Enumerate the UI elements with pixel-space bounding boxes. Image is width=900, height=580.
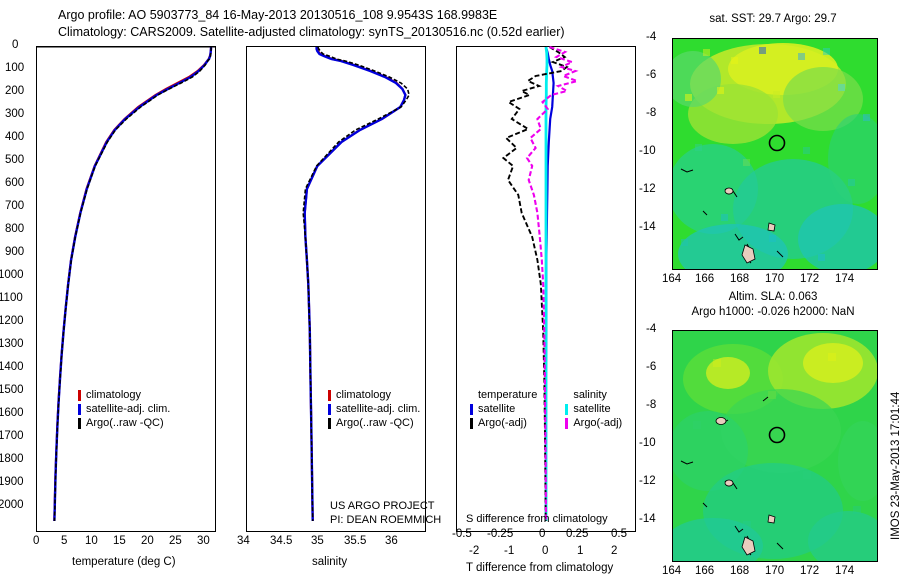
- salinity-legend: climatology satellite-adj. clim. Argo(..…: [328, 389, 420, 429]
- difference-legend: temperature satellite Argo(-adj) salinit…: [470, 389, 622, 429]
- legend-swatch-diff-sal-argo: [565, 418, 568, 429]
- legend-swatch-satellite: [78, 404, 81, 415]
- temperature-legend: climatology satellite-adj. clim. Argo(..…: [78, 389, 170, 429]
- credit-line-2: PI: DEAN ROEMMICH: [330, 514, 441, 526]
- series-salinity-argo: [303, 47, 409, 521]
- legend-label-salinity-climatology: climatology: [336, 389, 391, 401]
- map-sla-title-line-1: Altim. SLA: 0.063: [668, 291, 878, 303]
- series-salinity-satellite: [305, 47, 406, 521]
- difference-bottom-axis-label: T difference from climatology: [466, 562, 613, 574]
- difference-plot-canvas: [456, 46, 636, 532]
- legend-swatch-climatology: [78, 390, 81, 401]
- legend-item-salinity-argo: Argo(..raw -QC): [328, 417, 420, 429]
- series-argo-raw: [55, 47, 212, 521]
- map-sla-title-line-2: Argo h1000: -0.026 h2000: NaN: [656, 306, 890, 318]
- difference-legend-salinity-column: salinity satellite Argo(-adj): [565, 389, 622, 429]
- legend-item-argo: Argo(..raw -QC): [78, 417, 170, 429]
- map-sst-title: sat. SST: 29.7 Argo: 29.7: [668, 13, 878, 25]
- header-line-1: Argo profile: AO 5903773_84 16-May-2013 …: [58, 8, 497, 22]
- legend-item-diff-sal-argo: Argo(-adj): [565, 417, 622, 429]
- legend-label-salinity-argo: Argo(..raw -QC): [336, 417, 414, 429]
- temperature-axis-label: temperature (deg C): [72, 556, 176, 568]
- legend-swatch-diff-temp-argo: [470, 418, 473, 429]
- legend-item-satellite: satellite-adj. clim.: [78, 403, 170, 415]
- series-climatology: [54, 47, 211, 521]
- legend-item-diff-sal-satellite: satellite: [565, 403, 622, 415]
- temperature-plot-canvas: [36, 46, 216, 532]
- legend-item-diff-temp-argo: Argo(-adj): [470, 417, 537, 429]
- legend-label-satellite: satellite-adj. clim.: [86, 403, 170, 415]
- difference-legend-temperature-column: temperature satellite Argo(-adj): [470, 389, 537, 429]
- legend-item-diff-temp-satellite: satellite: [470, 403, 537, 415]
- series-satellite-adj-clim: [54, 47, 211, 521]
- difference-legend-header-temperature: temperature: [478, 389, 537, 401]
- legend-label-diff-temp-argo: Argo(-adj): [478, 417, 527, 429]
- difference-top-axis-label: S difference from climatology: [466, 513, 608, 525]
- legend-item-salinity-climatology: climatology: [328, 389, 420, 401]
- credit-line-1: US ARGO PROJECT: [330, 500, 435, 512]
- legend-swatch-salinity-climatology: [328, 390, 331, 401]
- legend-label-salinity-satellite: satellite-adj. clim.: [336, 403, 420, 415]
- map-sst-canvas: [673, 39, 877, 269]
- difference-legend-header-salinity: salinity: [573, 389, 622, 401]
- legend-label-diff-temp-satellite: satellite: [478, 403, 515, 415]
- legend-label-diff-sal-argo: Argo(-adj): [573, 417, 622, 429]
- series-salinity-climatology: [305, 47, 406, 521]
- series-diff-temp-argo: [503, 47, 566, 521]
- salinity-axis-label: salinity: [312, 556, 347, 568]
- legend-swatch-argo: [78, 418, 81, 429]
- map-sla-canvas: [673, 331, 877, 561]
- imos-timestamp: IMOS 23-May-2013 17:01:44: [890, 392, 900, 540]
- header-line-2: Climatology: CARS2009. Satellite-adjuste…: [58, 25, 565, 39]
- legend-label-climatology: climatology: [86, 389, 141, 401]
- series-diff-sal-argo: [527, 47, 577, 521]
- salinity-plot-canvas: [246, 46, 426, 532]
- legend-swatch-salinity-argo: [328, 418, 331, 429]
- legend-swatch-diff-temp-satellite: [470, 404, 473, 415]
- legend-item-climatology: climatology: [78, 389, 170, 401]
- legend-swatch-diff-sal-satellite: [565, 404, 568, 415]
- legend-label-diff-sal-satellite: satellite: [573, 403, 610, 415]
- legend-swatch-salinity-satellite: [328, 404, 331, 415]
- legend-label-argo: Argo(..raw -QC): [86, 417, 164, 429]
- legend-item-salinity-satellite: satellite-adj. clim.: [328, 403, 420, 415]
